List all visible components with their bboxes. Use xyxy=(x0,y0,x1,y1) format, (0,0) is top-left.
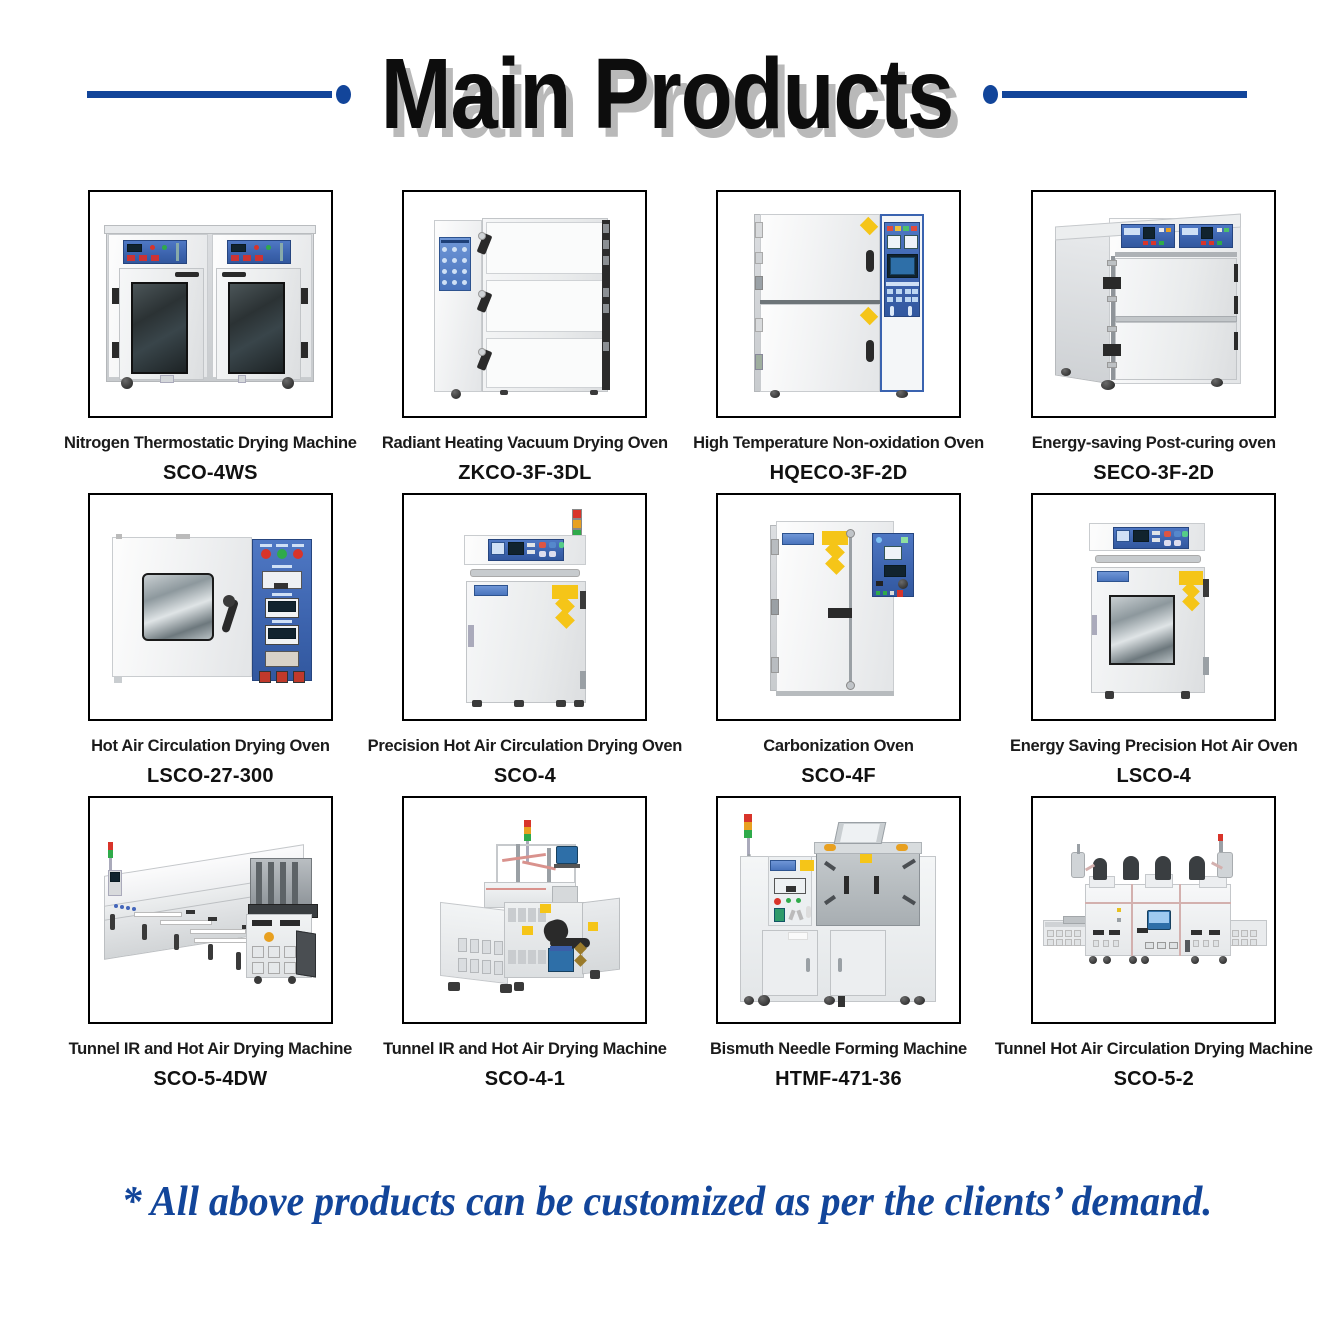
product-model: LSCO-4 xyxy=(1116,765,1191,788)
header-dot-left xyxy=(336,85,351,104)
product-card[interactable]: Energy Saving Precision Hot Air Oven LSC… xyxy=(995,493,1313,788)
product-name: Tunnel Hot Air Circulation Drying Machin… xyxy=(995,1040,1313,1058)
product-model: SECO-3F-2D xyxy=(1093,462,1214,485)
product-image-inline-tunnel-hot-air-dryer xyxy=(1031,796,1276,1024)
product-card[interactable]: Tunnel IR and Hot Air Drying Machine SCO… xyxy=(368,796,682,1091)
product-grid: Nitrogen Thermostatic Drying Machine SCO… xyxy=(64,190,1274,1091)
product-model: HQECO-3F-2D xyxy=(770,462,908,485)
product-model: SCO-4-1 xyxy=(485,1068,565,1091)
product-model: SCO-4 xyxy=(494,765,556,788)
product-image-bismuth-needle-forming-machine xyxy=(716,796,961,1024)
product-name: Energy Saving Precision Hot Air Oven xyxy=(1010,737,1298,755)
page-header: Main Products Main Products xyxy=(0,44,1334,144)
page-title: Main Products Main Products xyxy=(381,52,954,137)
product-image-two-chamber-high-temp-oven xyxy=(716,190,961,418)
product-name: Radiant Heating Vacuum Drying Oven xyxy=(382,434,668,452)
product-image-window-door-precision-oven xyxy=(1031,493,1276,721)
product-card[interactable]: Bismuth Needle Forming Machine HTMF-471-… xyxy=(693,796,984,1091)
product-name: Energy-saving Post-curing oven xyxy=(1032,434,1276,452)
header-rule-left xyxy=(87,91,332,98)
product-card[interactable]: Tunnel IR and Hot Air Drying Machine SCO… xyxy=(64,796,357,1091)
product-image-precision-hot-air-oven xyxy=(402,493,647,721)
header-dot-right xyxy=(983,85,998,104)
product-name: Carbonization Oven xyxy=(763,737,913,755)
product-model: SCO-5-2 xyxy=(1114,1068,1194,1091)
product-card[interactable]: Nitrogen Thermostatic Drying Machine SCO… xyxy=(64,190,357,485)
product-card[interactable]: Precision Hot Air Circulation Drying Ove… xyxy=(368,493,682,788)
product-image-two-deck-post-curing-oven xyxy=(1031,190,1276,418)
product-image-compact-tunnel-ir-dryer xyxy=(402,796,647,1024)
product-image-three-chamber-vacuum-oven xyxy=(402,190,647,418)
footer: * All above products can be customized a… xyxy=(0,1178,1334,1226)
product-name: Hot Air Circulation Drying Oven xyxy=(91,737,330,755)
product-image-long-tunnel-conveyor-dryer xyxy=(88,796,333,1024)
product-name: Precision Hot Air Circulation Drying Ove… xyxy=(368,737,682,755)
product-model: SCO-4F xyxy=(801,765,876,788)
product-image-benchtop-hot-air-oven xyxy=(88,493,333,721)
product-model: SCO-5-4DW xyxy=(153,1068,267,1091)
product-name: High Temperature Non-oxidation Oven xyxy=(693,434,984,452)
product-name: Nitrogen Thermostatic Drying Machine xyxy=(64,434,357,452)
product-model: LSCO-27-300 xyxy=(147,765,274,788)
product-card[interactable]: Tunnel Hot Air Circulation Drying Machin… xyxy=(995,796,1313,1091)
product-model: ZKCO-3F-3DL xyxy=(458,462,591,485)
product-card[interactable]: High Temperature Non-oxidation Oven HQEC… xyxy=(693,190,984,485)
page-title-text: Main Products xyxy=(381,44,954,144)
product-card[interactable]: Radiant Heating Vacuum Drying Oven ZKCO-… xyxy=(368,190,682,485)
customization-note: * All above products can be customized a… xyxy=(122,1178,1213,1226)
product-name: Bismuth Needle Forming Machine xyxy=(710,1040,967,1058)
product-model: SCO-4WS xyxy=(163,462,258,485)
product-card[interactable]: Energy-saving Post-curing oven SECO-3F-2… xyxy=(995,190,1313,485)
header-rule-right xyxy=(1002,91,1247,98)
product-name: Tunnel IR and Hot Air Drying Machine xyxy=(383,1040,666,1058)
product-card[interactable]: Carbonization Oven SCO-4F xyxy=(693,493,984,788)
product-name: Tunnel IR and Hot Air Drying Machine xyxy=(69,1040,352,1058)
product-card[interactable]: Hot Air Circulation Drying Oven LSCO-27-… xyxy=(64,493,357,788)
product-image-double-door-nitrogen-oven xyxy=(88,190,333,418)
product-model: HTMF-471-36 xyxy=(775,1068,902,1091)
product-image-carbonization-oven xyxy=(716,493,961,721)
